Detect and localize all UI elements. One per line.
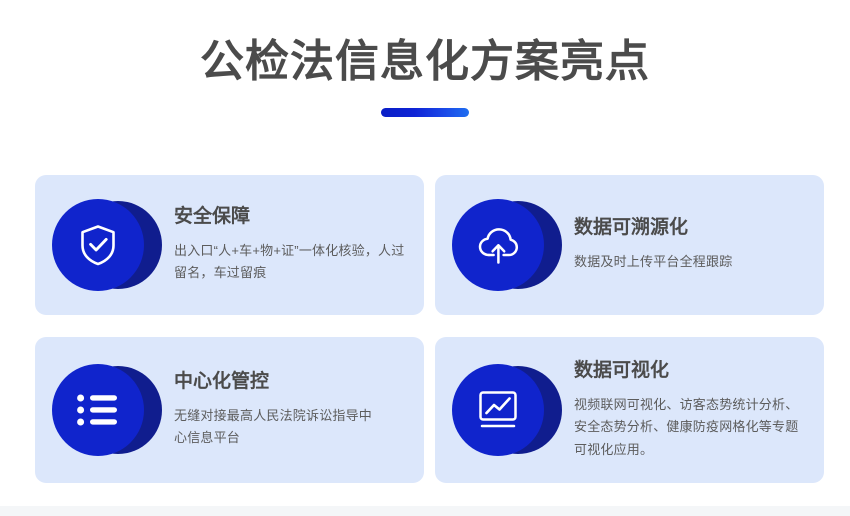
icon-disc — [52, 364, 144, 456]
card-text-block: 中心化管控 无缝对接最高人民法院诉讼指导中心信息平台 — [156, 370, 394, 449]
card-description: 数据及时上传平台全程跟踪 — [574, 251, 732, 273]
card-description: 无缝对接最高人民法院诉讼指导中心信息平台 — [174, 405, 382, 450]
card-description: 视频联网可视化、访客态势统计分析、安全态势分析、健康防疫网格化等专题可视化应用。 — [574, 394, 806, 461]
cloud-upload-icon — [475, 224, 521, 266]
feature-card-grid: 安全保障 出入口“人+车+物+证”一体化核验，人过留名，车过留痕 — [35, 175, 824, 483]
card-text-block: 数据可溯源化 数据及时上传平台全程跟踪 — [556, 216, 744, 273]
feature-card[interactable]: 安全保障 出入口“人+车+物+证”一体化核验，人过留名，车过留痕 — [35, 175, 424, 315]
page-title: 公检法信息化方案亮点 — [0, 36, 850, 88]
feature-card[interactable]: 中心化管控 无缝对接最高人民法院诉讼指导中心信息平台 — [35, 337, 424, 483]
icon-badge — [52, 197, 156, 293]
icon-badge — [452, 362, 556, 458]
card-title: 安全保障 — [174, 205, 406, 229]
card-title: 数据可视化 — [574, 359, 806, 383]
card-title: 数据可溯源化 — [574, 216, 732, 240]
card-title: 中心化管控 — [174, 370, 382, 394]
shield-check-icon — [78, 223, 118, 267]
icon-disc — [452, 364, 544, 456]
chart-monitor-icon — [476, 389, 520, 431]
bullet-list-icon — [76, 393, 120, 427]
icon-badge — [452, 197, 556, 293]
card-text-block: 安全保障 出入口“人+车+物+证”一体化核验，人过留名，车过留痕 — [156, 205, 418, 284]
card-description: 出入口“人+车+物+证”一体化核验，人过留名，车过留痕 — [174, 240, 406, 285]
icon-disc — [452, 199, 544, 291]
feature-card[interactable]: 数据可视化 视频联网可视化、访客态势统计分析、安全态势分析、健康防疫网格化等专题… — [435, 337, 824, 483]
footer-divider-strip — [0, 506, 850, 516]
page-header: 公检法信息化方案亮点 — [0, 0, 850, 117]
feature-highlights-page: 公检法信息化方案亮点 安全保障 出入口“人+车+物+证”一体化核 — [0, 0, 850, 516]
icon-disc — [52, 199, 144, 291]
icon-badge — [52, 362, 156, 458]
feature-card[interactable]: 数据可溯源化 数据及时上传平台全程跟踪 — [435, 175, 824, 315]
title-underline-accent — [381, 108, 469, 117]
card-text-block: 数据可视化 视频联网可视化、访客态势统计分析、安全态势分析、健康防疫网格化等专题… — [556, 359, 818, 461]
